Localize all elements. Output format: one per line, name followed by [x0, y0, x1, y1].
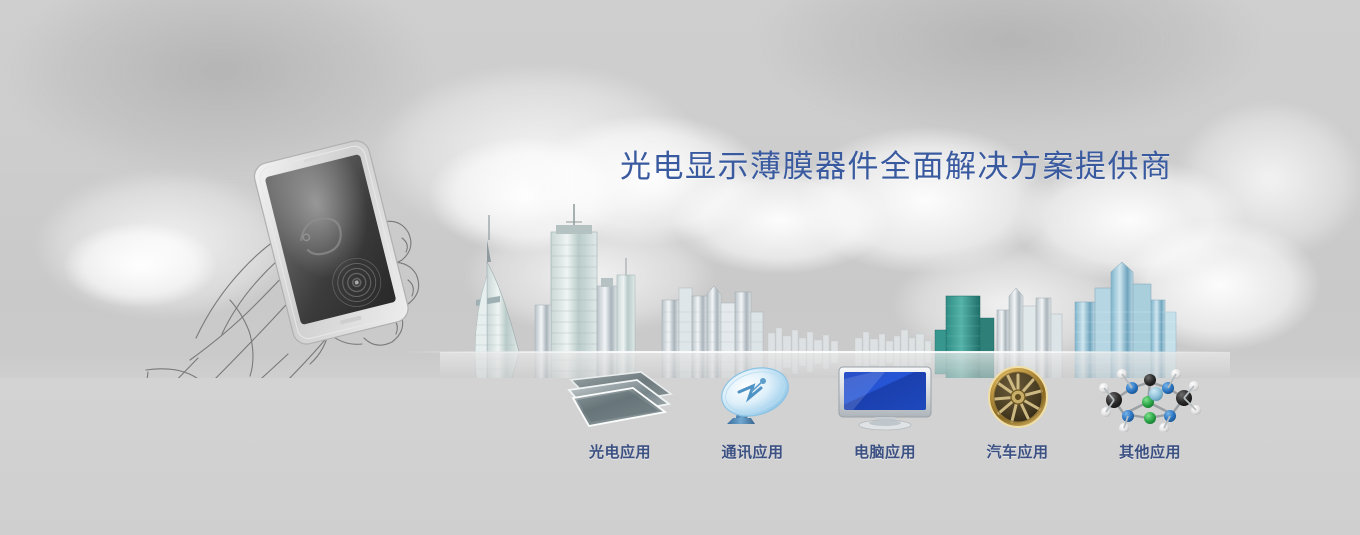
category-label: 通讯应用 — [721, 441, 783, 462]
category-item-automotive[interactable]: 汽车应用 — [958, 364, 1078, 462]
category-item-communications[interactable]: 通讯应用 — [693, 364, 813, 462]
molecule-model-icon — [1094, 364, 1206, 432]
category-item-computer[interactable]: 电脑应用 — [825, 364, 945, 462]
car-alloy-wheel-icon — [962, 364, 1074, 432]
category-label: 电脑应用 — [854, 441, 916, 462]
category-label: 光电应用 — [589, 441, 651, 462]
category-label: 其他应用 — [1119, 441, 1181, 462]
category-item-optoelectronic[interactable]: 光电应用 — [560, 364, 680, 462]
hero-banner: 光电显示薄膜器件全面解决方案提供商 — [0, 0, 1360, 535]
category-item-others[interactable]: 其他应用 — [1090, 364, 1210, 462]
computer-monitor-icon — [829, 364, 941, 432]
category-label: 汽车应用 — [986, 441, 1048, 462]
page-title: 光电显示薄膜器件全面解决方案提供商 — [620, 141, 1173, 186]
glass-film-panels-icon — [564, 364, 676, 432]
application-category-strip: 光电应用 — [560, 352, 1210, 462]
satellite-dish-icon — [697, 364, 809, 432]
